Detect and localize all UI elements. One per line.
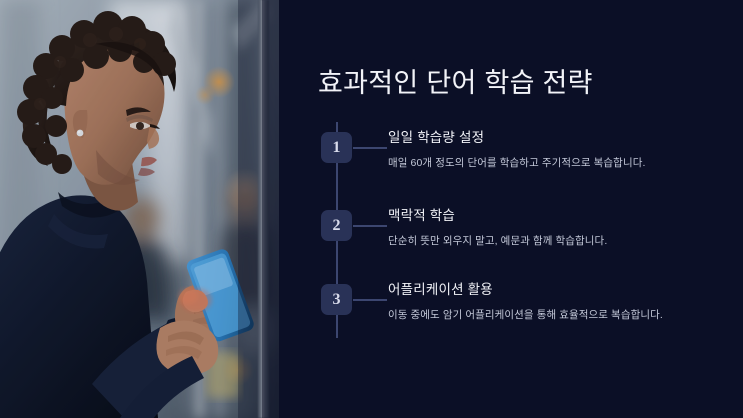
step-number-badge: 3	[321, 284, 352, 315]
step-connector-line	[353, 147, 387, 149]
step-heading: 일일 학습량 설정	[388, 128, 738, 148]
presentation-slide: 효과적인 단어 학습 전략 1 일일 학습량 설정 매일 60개 정도의 단어를…	[0, 0, 743, 418]
step-number-badge: 2	[321, 210, 352, 241]
step-heading: 어플리케이션 활용	[388, 280, 738, 300]
step-connector-line	[353, 299, 387, 301]
step-number-badge: 1	[321, 132, 352, 163]
step-description: 매일 60개 정도의 단어를 학습하고 주기적으로 복습합니다.	[388, 155, 738, 171]
step-connector-line	[353, 225, 387, 227]
hero-photo	[0, 0, 279, 418]
step-description: 이동 중에도 암기 어플리케이션을 통해 효율적으로 복습합니다.	[388, 307, 738, 323]
step-text-block: 맥락적 학습 단순히 뜻만 외우지 말고, 예문과 함께 학습합니다.	[388, 206, 738, 249]
list-item[interactable]: 3 어플리케이션 활용 이동 중에도 암기 어플리케이션을 통해 효율적으로 복…	[279, 284, 743, 340]
list-item[interactable]: 2 맥락적 학습 단순히 뜻만 외우지 말고, 예문과 함께 학습합니다.	[279, 210, 743, 266]
steps-timeline: 1 일일 학습량 설정 매일 60개 정도의 단어를 학습하고 주기적으로 복습…	[279, 0, 743, 418]
step-heading: 맥락적 학습	[388, 206, 738, 226]
list-item[interactable]: 1 일일 학습량 설정 매일 60개 정도의 단어를 학습하고 주기적으로 복습…	[279, 132, 743, 188]
step-text-block: 일일 학습량 설정 매일 60개 정도의 단어를 학습하고 주기적으로 복습합니…	[388, 128, 738, 171]
step-text-block: 어플리케이션 활용 이동 중에도 암기 어플리케이션을 통해 효율적으로 복습합…	[388, 280, 738, 323]
photo-illustration	[0, 0, 279, 418]
content-panel: 효과적인 단어 학습 전략 1 일일 학습량 설정 매일 60개 정도의 단어를…	[279, 0, 743, 418]
step-description: 단순히 뜻만 외우지 말고, 예문과 함께 학습합니다.	[388, 233, 738, 249]
